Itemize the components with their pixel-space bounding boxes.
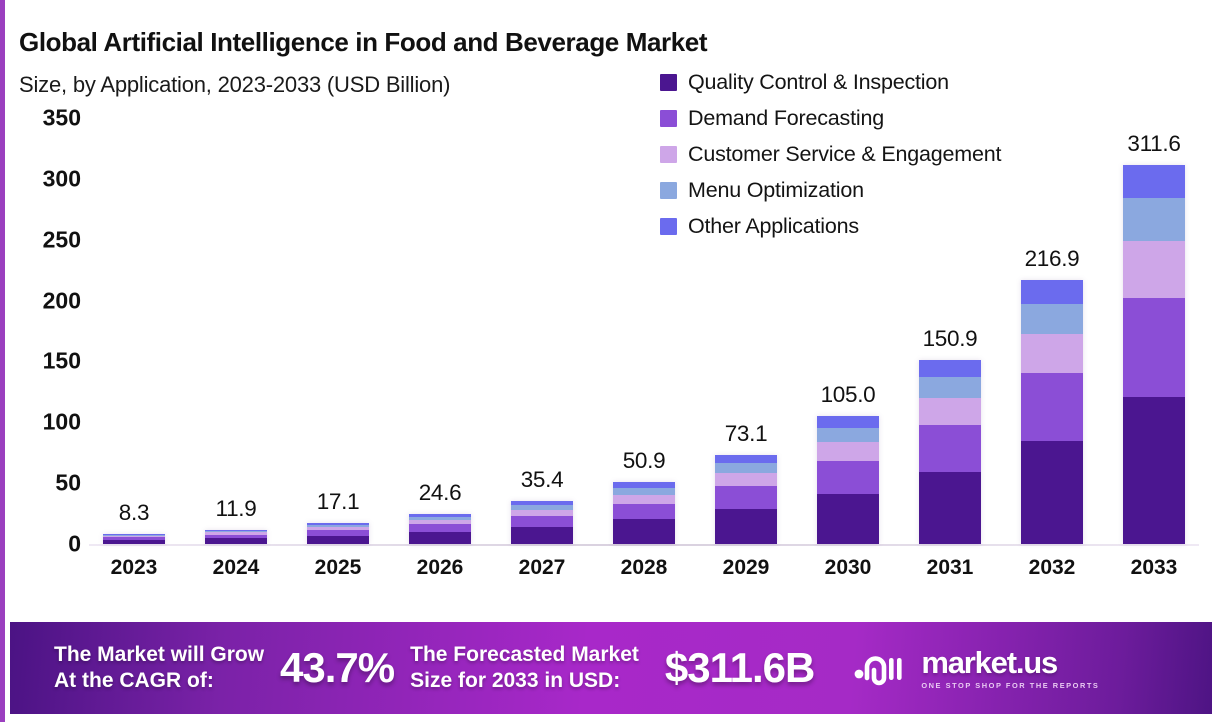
market-us-mark-icon [852,648,912,688]
bar-column[interactable]: 35.4 [497,118,587,544]
forecast-caption-line1: The Forecasted Market [410,642,639,668]
bar-column[interactable]: 150.9 [905,118,995,544]
bar-segment[interactable] [511,527,573,544]
bar-segment[interactable] [613,495,675,504]
bar-segment[interactable] [307,536,369,544]
bar-column[interactable]: 73.1 [701,118,791,544]
bar-stack[interactable] [307,523,369,544]
bar-segment[interactable] [817,461,879,493]
bar-column[interactable]: 216.9 [1007,118,1097,544]
bar-segment[interactable] [409,532,471,544]
bar-segment[interactable] [103,540,165,544]
bar-segment[interactable] [919,472,981,544]
bar-segment[interactable] [715,473,777,486]
bar-column[interactable]: 105.0 [803,118,893,544]
bar-value-label: 8.3 [119,500,149,526]
bar-segment[interactable] [613,519,675,544]
bar-value-label: 11.9 [216,496,257,522]
market-us-logo[interactable]: market.us ONE STOP SHOP FOR THE REPORTS [852,647,1099,690]
bar-segment[interactable] [817,442,879,461]
forecast-value: $311.6B [665,644,814,692]
x-axis-tick-label: 2033 [1109,556,1199,580]
y-axis-tick-label: 0 [68,531,81,558]
x-axis-tick-label: 2032 [1007,556,1097,580]
bar-stack[interactable] [613,482,675,544]
bar-value-label: 17.1 [317,489,360,515]
forecast-caption: The Forecasted Market Size for 2033 in U… [410,642,639,695]
bar-stack[interactable] [103,534,165,544]
x-axis: 2023202420252026202720282029203020312032… [89,556,1199,580]
bar-stack[interactable] [511,501,573,544]
y-axis-tick-label: 100 [43,409,81,436]
bar-column[interactable]: 311.6 [1109,118,1199,544]
bar-stack[interactable] [919,360,981,544]
y-axis-tick-label: 200 [43,287,81,314]
bar-segment[interactable] [205,538,267,544]
logo-wordmark: market.us [921,647,1099,678]
chart-card: Global Artificial Intelligence in Food a… [0,0,1216,722]
bar-value-label: 150.9 [923,326,978,352]
bar-segment[interactable] [409,524,471,532]
bar-segment[interactable] [1123,241,1185,298]
bar-segment[interactable] [919,425,981,472]
bar-value-label: 216.9 [1025,246,1080,272]
bar-column[interactable]: 17.1 [293,118,383,544]
bar-segment[interactable] [715,455,777,463]
x-axis-tick-label: 2024 [191,556,281,580]
bar-segment[interactable] [1021,280,1083,304]
bar-stack[interactable] [1021,280,1083,544]
bar-value-label: 105.0 [821,382,876,408]
bar-stack[interactable] [205,530,267,544]
bar-segment[interactable] [1123,397,1185,545]
y-axis-tick-label: 300 [43,165,81,192]
legend-item[interactable]: Quality Control & Inspection [660,66,1001,99]
bar-value-label: 50.9 [623,448,666,474]
cagr-caption: The Market will Grow At the CAGR of: [54,642,264,695]
bar-segment[interactable] [1021,441,1083,544]
cagr-value: 43.7% [280,644,394,692]
forecast-caption-line2: Size for 2033 in USD: [410,668,639,694]
bar-segment[interactable] [1021,373,1083,441]
x-axis-tick-label: 2023 [89,556,179,580]
chart-subtitle: Size, by Application, 2023-2033 (USD Bil… [19,72,450,98]
legend-swatch-icon [660,74,677,91]
bar-stack[interactable] [817,416,879,544]
bar-column[interactable]: 50.9 [599,118,689,544]
bar-segment[interactable] [613,488,675,495]
bar-segment[interactable] [1021,304,1083,334]
bar-column[interactable]: 11.9 [191,118,281,544]
x-axis-tick-label: 2031 [905,556,995,580]
bar-group: 8.311.917.124.635.450.973.1105.0150.9216… [89,118,1199,544]
bar-segment[interactable] [1021,334,1083,373]
cagr-caption-line2: At the CAGR of: [54,668,264,694]
x-axis-tick-label: 2030 [803,556,893,580]
bar-segment[interactable] [613,504,675,520]
plot-area: 050100150200250300350 8.311.917.124.635.… [89,118,1199,558]
logo-tagline: ONE STOP SHOP FOR THE REPORTS [921,681,1099,690]
y-axis-tick-label: 250 [43,226,81,253]
bar-stack[interactable] [715,455,777,544]
summary-banner: The Market will Grow At the CAGR of: 43.… [10,622,1212,714]
y-axis-tick-label: 150 [43,348,81,375]
bar-segment[interactable] [1123,198,1185,241]
bar-column[interactable]: 24.6 [395,118,485,544]
bar-value-label: 311.6 [1127,131,1180,157]
bar-segment[interactable] [715,509,777,544]
bar-segment[interactable] [715,486,777,509]
bar-segment[interactable] [919,360,981,377]
y-axis-tick-label: 350 [43,105,81,132]
x-axis-tick-label: 2029 [701,556,791,580]
bar-stack[interactable] [1123,165,1185,544]
bar-segment[interactable] [817,494,879,544]
y-axis: 050100150200250300350 [9,118,81,544]
cagr-caption-line1: The Market will Grow [54,642,264,668]
x-axis-tick-label: 2025 [293,556,383,580]
bar-stack[interactable] [409,514,471,544]
x-axis-tick-label: 2027 [497,556,587,580]
page-title: Global Artificial Intelligence in Food a… [19,27,707,58]
bar-segment[interactable] [1123,298,1185,396]
bar-segment[interactable] [919,398,981,425]
bar-value-label: 73.1 [725,421,768,447]
bar-value-label: 24.6 [419,480,462,506]
y-axis-tick-label: 50 [55,470,81,497]
bar-segment[interactable] [715,463,777,473]
bar-segment[interactable] [919,377,981,398]
x-axis-tick-label: 2026 [395,556,485,580]
bar-segment[interactable] [511,516,573,527]
x-axis-line [89,544,1199,546]
bar-segment[interactable] [817,416,879,428]
bar-segment[interactable] [1123,165,1185,199]
legend-label: Quality Control & Inspection [688,70,949,95]
bar-value-label: 35.4 [521,467,564,493]
bar-column[interactable]: 8.3 [89,118,179,544]
x-axis-tick-label: 2028 [599,556,689,580]
bar-segment[interactable] [817,428,879,442]
